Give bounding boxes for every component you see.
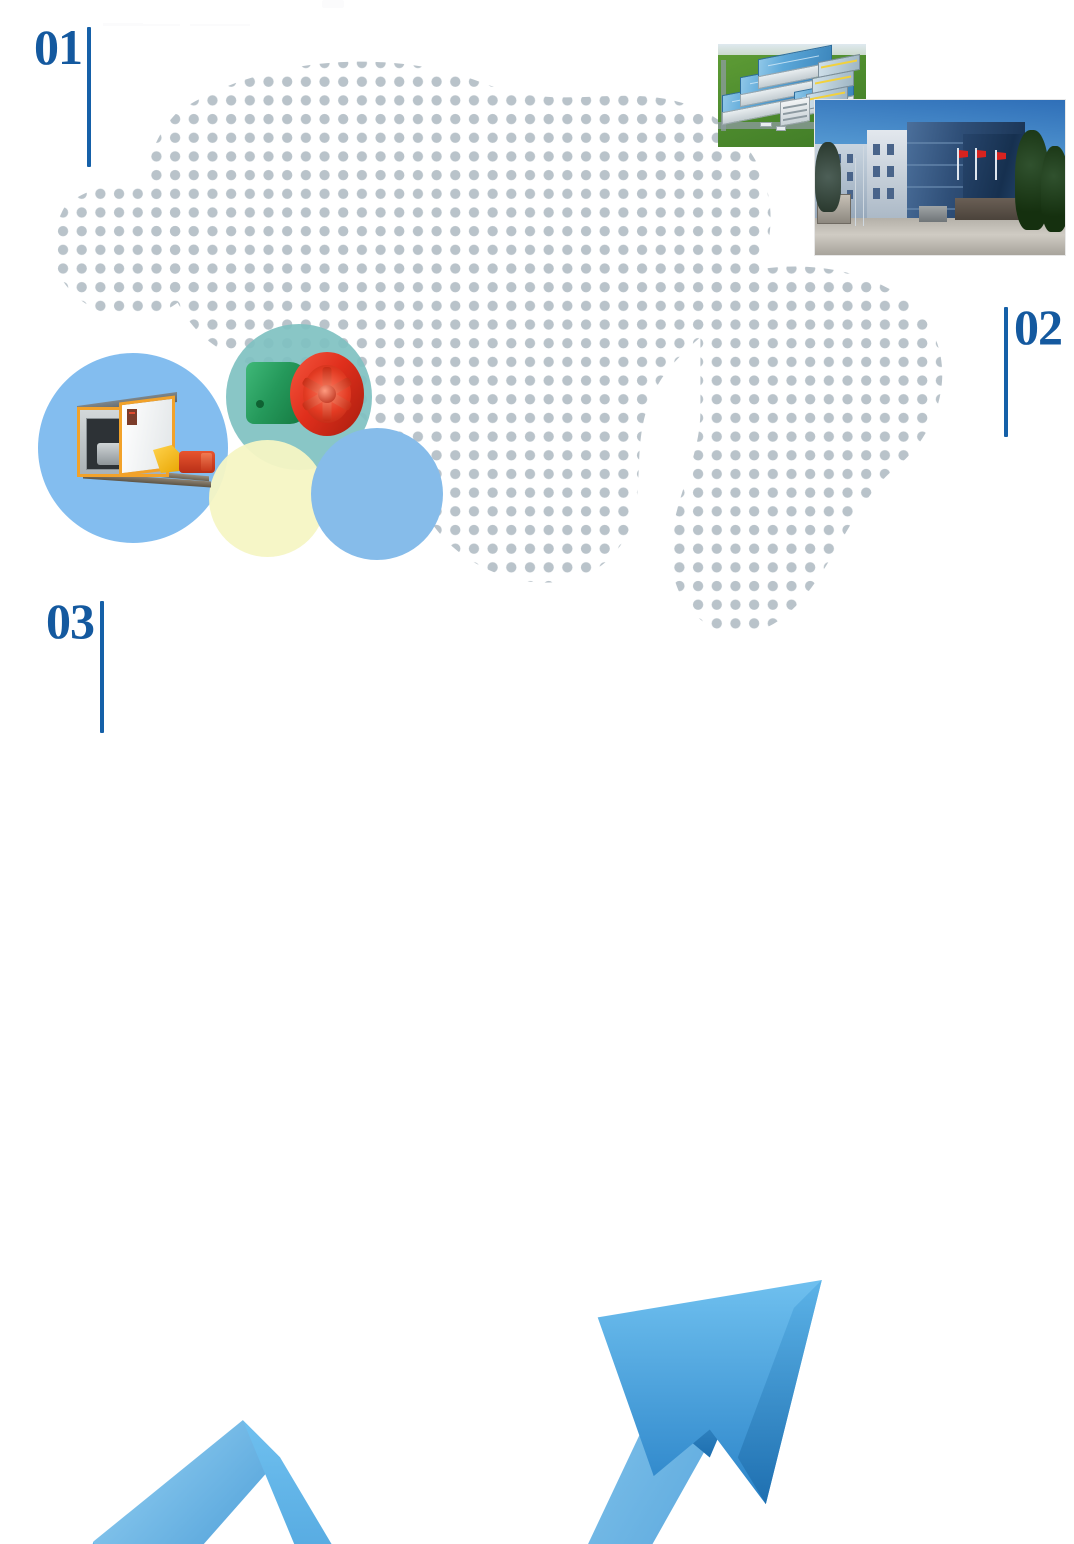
cabinet-fan-unit-image <box>75 385 215 500</box>
fan-hub <box>318 385 336 403</box>
window <box>873 166 880 177</box>
skyline-block <box>0 994 8 1032</box>
annex-stripe <box>821 59 858 68</box>
window <box>873 188 880 199</box>
skyline-block <box>0 1236 12 1252</box>
mid-wing-building <box>867 130 911 224</box>
window <box>887 144 894 155</box>
control-panel <box>127 409 137 425</box>
tree-2 <box>1041 146 1065 232</box>
utility-pole-2 <box>855 158 856 226</box>
section-rule-01 <box>87 27 91 167</box>
office-building-image <box>815 100 1065 255</box>
office-floorline <box>783 109 808 115</box>
skyline-block <box>0 1190 11 1210</box>
tree-3 <box>815 142 841 212</box>
skyline-block <box>0 948 9 978</box>
top-artifact-4 <box>322 0 344 8</box>
axial-flow-fan-image <box>246 348 364 448</box>
top-artifact-1 <box>103 23 143 26</box>
section-number-01: 01 <box>34 22 82 72</box>
annex-stripe <box>815 75 852 84</box>
truck-1 <box>760 122 772 127</box>
product-circle-damper <box>209 440 326 557</box>
office-floorline <box>783 115 808 121</box>
fan-impeller <box>303 365 351 423</box>
window <box>873 144 880 155</box>
flag-3 <box>995 150 997 180</box>
window <box>847 172 853 181</box>
skyline-block <box>0 1056 9 1088</box>
skyline-block <box>0 892 8 928</box>
skyline-block <box>0 1210 8 1236</box>
skyline-block <box>0 1088 11 1106</box>
top-artifact-3 <box>190 24 250 26</box>
section-marker-02: 02 <box>1004 302 1062 437</box>
skyline-block <box>0 826 9 866</box>
section-rule-02 <box>1004 307 1008 437</box>
skyline-block <box>0 866 12 892</box>
gate-barrier <box>919 206 947 222</box>
section-number-02: 02 <box>1014 302 1062 352</box>
skyline-block <box>0 1106 8 1134</box>
section-number-03: 03 <box>46 596 94 646</box>
flag-2 <box>975 148 977 180</box>
flag-1 <box>957 148 959 180</box>
skyline-block <box>0 1156 9 1190</box>
fan-outlet-ring <box>290 352 364 436</box>
city-skyline-silhouette <box>0 752 1074 1252</box>
office-floorline <box>783 103 808 109</box>
page-canvas: 01 02 03 <box>0 0 1074 772</box>
section-rule-03 <box>100 601 104 733</box>
skyline-block <box>0 978 11 994</box>
skyline-block <box>0 928 13 948</box>
skyline-block <box>0 1032 12 1056</box>
truck-2 <box>776 126 786 131</box>
window <box>887 166 894 177</box>
top-artifact-2 <box>140 24 180 26</box>
electric-motor <box>179 451 215 473</box>
skyline-block <box>0 1134 13 1156</box>
skyline-block <box>0 808 11 826</box>
utility-pole-1 <box>863 146 864 226</box>
window <box>847 154 853 163</box>
skyline-block <box>0 774 8 808</box>
section-marker-03: 03 <box>46 596 104 733</box>
growth-arrow-icon <box>0 1252 1074 1544</box>
window <box>887 188 894 199</box>
section-marker-01: 01 <box>34 22 91 167</box>
product-cluster <box>30 320 430 560</box>
skyline-block <box>0 752 10 774</box>
office-block <box>780 96 810 126</box>
